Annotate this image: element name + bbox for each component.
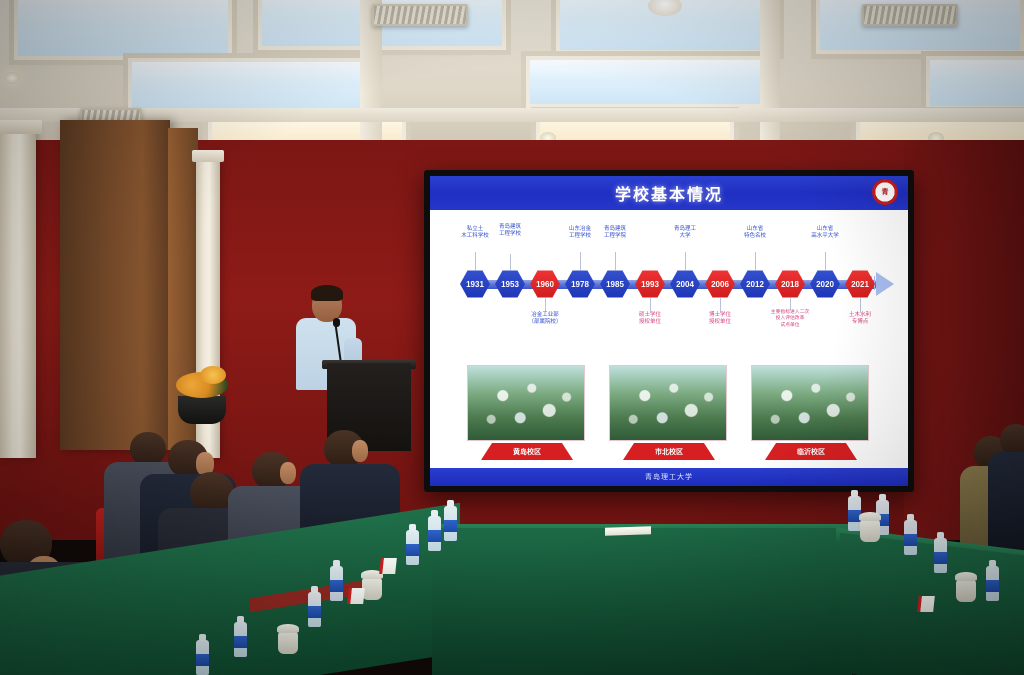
timeline-node: 2012 bbox=[740, 270, 770, 298]
timeline-label-top: 青岛理工大学 bbox=[659, 226, 711, 241]
timeline-label-top: 青岛建筑工程学院 bbox=[589, 226, 641, 241]
timeline-node: 1953 bbox=[495, 270, 525, 298]
university-logo-text: 青 bbox=[882, 187, 889, 197]
campus-aerial-photo bbox=[467, 365, 585, 441]
pillar-left bbox=[0, 128, 36, 458]
leader-line bbox=[720, 298, 721, 312]
pillar-capital bbox=[0, 120, 42, 134]
timeline-node: 2018 bbox=[775, 270, 805, 298]
water-bottle[interactable] bbox=[308, 592, 321, 627]
timeline-label-top: 山东省特色名校 bbox=[729, 226, 781, 241]
timeline-label-top: 青岛建筑工程学校 bbox=[484, 224, 536, 239]
university-logo-icon: 青 bbox=[872, 179, 898, 205]
leader-line bbox=[755, 252, 756, 270]
slide-title-bar: 学校基本情况 青 bbox=[430, 176, 908, 210]
campus-aerial-photo bbox=[751, 365, 869, 441]
leader-line bbox=[475, 252, 476, 270]
leader-line bbox=[650, 298, 651, 312]
ceiling-light-panel bbox=[18, 0, 228, 56]
teacup[interactable] bbox=[362, 578, 382, 600]
timeline-node: 2006 bbox=[705, 270, 735, 298]
teacup[interactable] bbox=[860, 520, 880, 542]
teacup-lid bbox=[955, 572, 977, 581]
slide-title: 学校基本情况 bbox=[615, 181, 723, 205]
timeline-label-bottom: 博士学位授权单位 bbox=[694, 312, 746, 327]
timeline-node: 1985 bbox=[600, 270, 630, 298]
hvac-vent bbox=[372, 4, 468, 26]
timeline-label-bottom: 冶金工业部（部属院校） bbox=[519, 312, 571, 327]
timeline-node: 2004 bbox=[670, 270, 700, 298]
downlight bbox=[4, 72, 20, 84]
hvac-vent bbox=[862, 4, 958, 26]
leader-line bbox=[510, 254, 511, 270]
slide-footer-text: 青岛理工大学 bbox=[645, 472, 693, 482]
timeline-label-bottom: 主要指标进入二次投入评估改革试点单位 bbox=[764, 310, 816, 329]
document-on-table[interactable] bbox=[605, 526, 651, 536]
campus-caption: 黄岛校区 bbox=[481, 443, 573, 460]
name-card bbox=[379, 558, 397, 574]
timeline-node: 1960 bbox=[530, 270, 560, 298]
flower-arrangement bbox=[200, 366, 226, 384]
name-card bbox=[917, 596, 935, 612]
timeline-node: 2020 bbox=[810, 270, 840, 298]
flower-vase bbox=[178, 396, 226, 424]
water-bottle[interactable] bbox=[406, 530, 419, 565]
ceiling-light-panel bbox=[132, 62, 372, 108]
speaker-hair bbox=[311, 285, 343, 301]
ceiling-light-panel bbox=[930, 60, 1024, 106]
timeline-label-bottom: 土木水利专博点 bbox=[834, 312, 886, 327]
campus-aerial-photo bbox=[609, 365, 727, 441]
wood-wall-panel bbox=[60, 120, 170, 450]
water-bottle[interactable] bbox=[904, 520, 917, 555]
timeline-node: 1978 bbox=[565, 270, 595, 298]
conference-room-photo: 学校基本情况 青 1931 1953 1960 1978 1985 bbox=[0, 0, 1024, 675]
slide-body: 1931 1953 1960 1978 1985 1993 2004 2006 … bbox=[430, 210, 908, 468]
campus-gallery: 黄岛校区 市北校区 临沂校区 bbox=[430, 348, 908, 460]
ceiling-beam bbox=[760, 0, 780, 152]
teacup[interactable] bbox=[956, 580, 976, 602]
teacup[interactable] bbox=[278, 632, 298, 654]
leader-line bbox=[580, 252, 581, 270]
teacup-lid bbox=[277, 624, 299, 633]
leader-line bbox=[825, 252, 826, 270]
slide: 学校基本情况 青 1931 1953 1960 1978 1985 bbox=[430, 176, 908, 486]
campus-card: 临沂校区 bbox=[751, 365, 871, 460]
slide-footer: 青岛理工大学 bbox=[430, 468, 908, 486]
timeline-label-bottom: 硕士学位授权单位 bbox=[624, 312, 676, 327]
leader-line bbox=[685, 252, 686, 270]
attendee-head bbox=[130, 432, 166, 466]
timeline-node: 2021 bbox=[845, 270, 875, 298]
leader-line bbox=[860, 298, 861, 312]
leader-line bbox=[615, 252, 616, 270]
leader-line bbox=[790, 298, 791, 310]
pillar-capital bbox=[192, 150, 224, 162]
timeline-label-top: 山东省高水平大学 bbox=[799, 226, 851, 241]
teacup-lid bbox=[859, 512, 881, 521]
water-bottle[interactable] bbox=[196, 640, 209, 675]
campus-card: 市北校区 bbox=[609, 365, 729, 460]
campus-card: 黄岛校区 bbox=[467, 365, 587, 460]
timeline-node: 1993 bbox=[635, 270, 665, 298]
name-card bbox=[347, 588, 365, 604]
conference-table-center bbox=[432, 528, 852, 675]
leader-line bbox=[545, 298, 546, 312]
campus-caption: 市北校区 bbox=[623, 443, 715, 460]
projection-screen[interactable]: 学校基本情况 青 1931 1953 1960 1978 1985 bbox=[424, 170, 914, 492]
attendee-face bbox=[352, 440, 368, 462]
water-bottle[interactable] bbox=[444, 506, 457, 541]
campus-caption: 临沂校区 bbox=[765, 443, 857, 460]
attendee-face bbox=[280, 462, 296, 484]
water-bottle[interactable] bbox=[986, 566, 999, 601]
microphone-icon bbox=[333, 318, 340, 327]
water-bottle[interactable] bbox=[330, 566, 343, 601]
ceiling-light-panel bbox=[530, 60, 770, 104]
timeline-node: 1931 bbox=[460, 270, 490, 298]
water-bottle[interactable] bbox=[428, 516, 441, 551]
timeline: 1931 1953 1960 1978 1985 1993 2004 2006 … bbox=[430, 210, 908, 348]
water-bottle[interactable] bbox=[934, 538, 947, 573]
water-bottle[interactable] bbox=[234, 622, 247, 657]
timeline-arrow-icon bbox=[876, 272, 894, 296]
